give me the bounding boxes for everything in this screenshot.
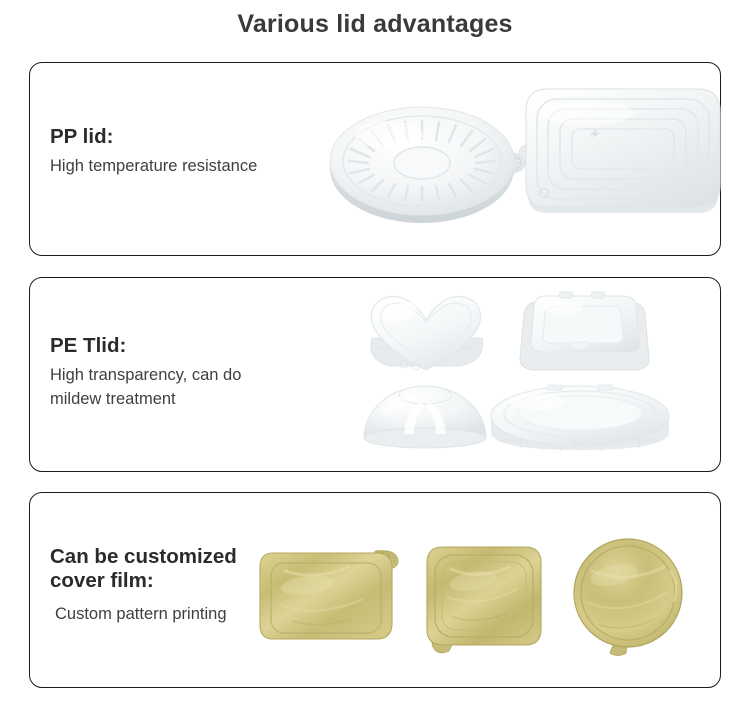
panel-pp-heading: PP lid: (50, 125, 257, 149)
panel-pp-text-block: PP lid: High temperature resistance (50, 125, 257, 179)
square-gold-cover-film-image (419, 539, 551, 657)
rectangular-pp-lid-image (508, 73, 736, 233)
page-title: Various lid advantages (0, 10, 750, 39)
panel-pe-subtext: High transparency, can do mildew treatme… (50, 364, 241, 412)
panel-pp-subtext: High temperature resistance (50, 155, 257, 179)
panel-pe-lid: PE Tlid: High transparency, can do milde… (29, 277, 721, 472)
oval-pe-lid-image (485, 378, 675, 458)
rectangular-gold-cover-film-image (259, 541, 407, 649)
round-pp-lid-image (327, 83, 537, 233)
round-gold-cover-film-image (566, 537, 692, 657)
panel-pe-heading: PE Tlid: (50, 334, 241, 358)
panel-pp-lid: PP lid: High temperature resistance (29, 62, 721, 256)
panel-pe-text-block: PE Tlid: High transparency, can do milde… (50, 334, 241, 412)
dome-pe-lid-image (360, 376, 490, 454)
panel-cover-film: Can be customized cover film: Custom pat… (29, 492, 721, 688)
panel-film-heading: Can be customized cover film: (50, 545, 237, 593)
panel-film-subtext: Custom pattern printing (55, 603, 237, 627)
panel-film-text-block: Can be customized cover film: Custom pat… (50, 545, 237, 627)
square-pe-lid-image (511, 284, 651, 379)
heart-pe-lid-image (360, 286, 495, 378)
